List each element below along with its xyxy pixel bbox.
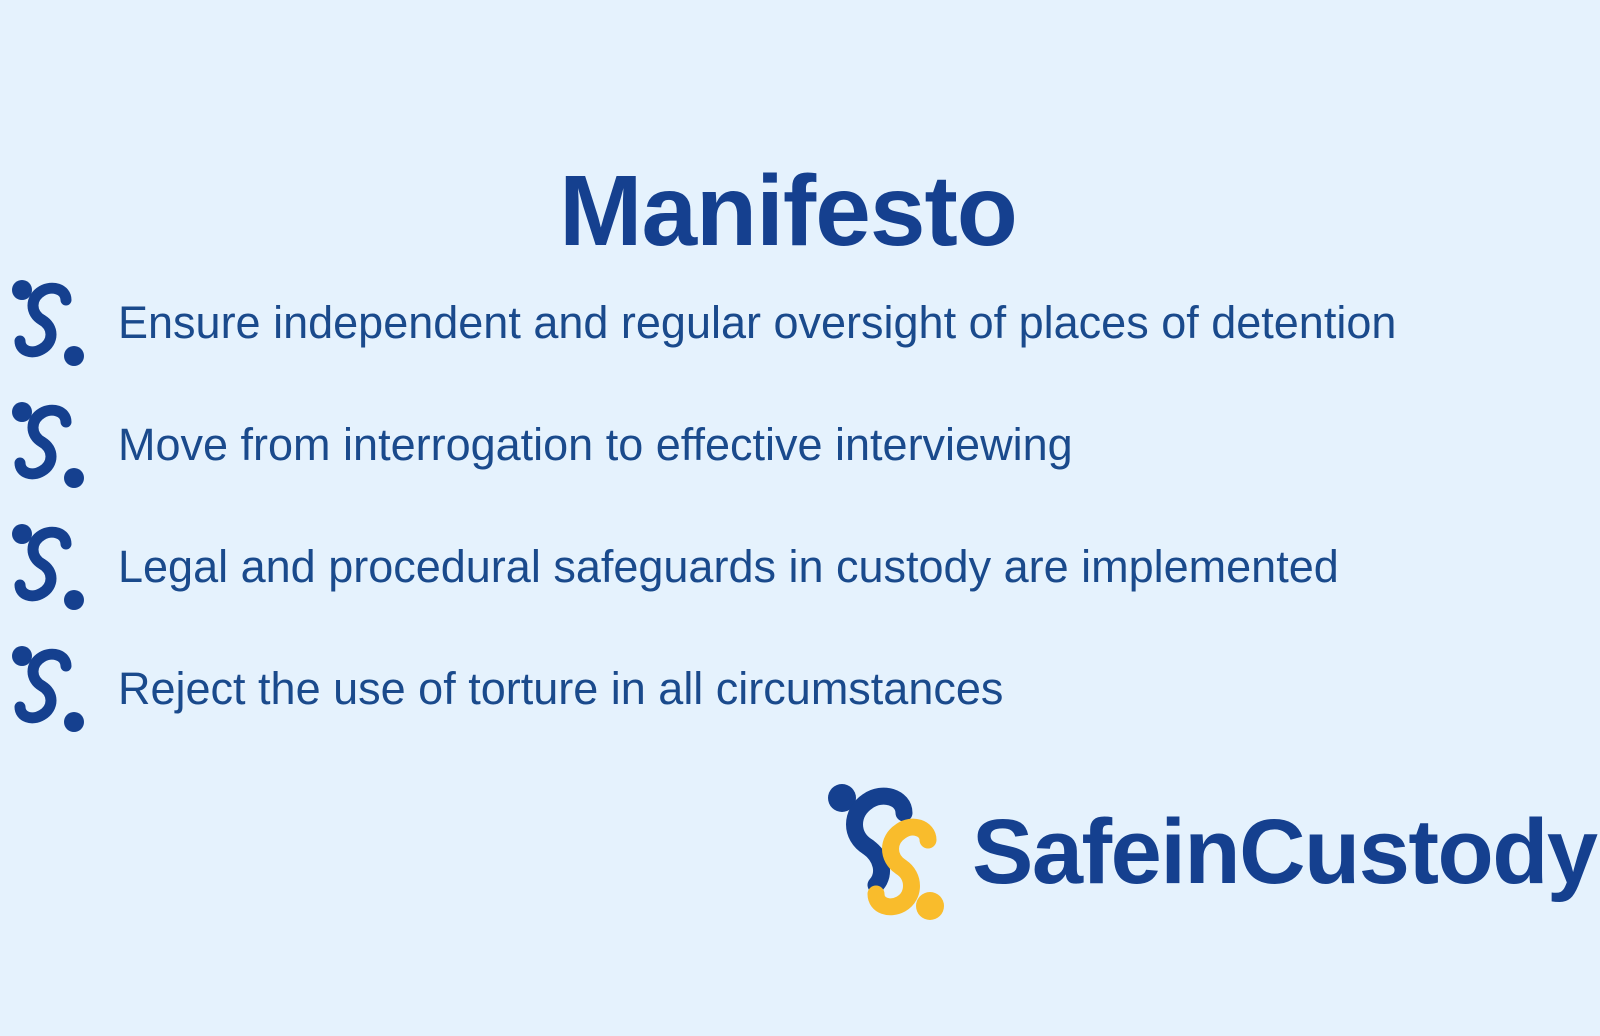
list-item-label: Move from interrogation to effective int…: [118, 419, 1073, 471]
list-item-label: Ensure independent and regular oversight…: [118, 297, 1396, 349]
safeincustody-logo-mark-icon: [824, 778, 948, 926]
list-item: Reject the use of torture in all circums…: [0, 628, 1600, 750]
safeincustody-s-monogram-icon: [10, 521, 88, 613]
list-item-label: Legal and procedural safeguards in custo…: [118, 541, 1339, 593]
safeincustody-s-monogram-icon: [10, 643, 88, 735]
logo-wordmark: SafeinCustody: [972, 806, 1597, 898]
safeincustody-s-monogram-icon: [10, 277, 88, 369]
page-title: Manifesto: [559, 159, 1017, 264]
list-item-label: Reject the use of torture in all circums…: [118, 663, 1003, 715]
safeincustody-s-monogram-icon: [10, 399, 88, 491]
list-item: Legal and procedural safeguards in custo…: [0, 506, 1600, 628]
slide-canvas: Manifesto Ensure independent and regular…: [0, 0, 1600, 1036]
list-item: Move from interrogation to effective int…: [0, 384, 1600, 506]
safeincustody-logo: SafeinCustody: [824, 778, 1597, 926]
list-item: Ensure independent and regular oversight…: [0, 262, 1600, 384]
manifesto-bullet-list: Ensure independent and regular oversight…: [0, 262, 1600, 750]
